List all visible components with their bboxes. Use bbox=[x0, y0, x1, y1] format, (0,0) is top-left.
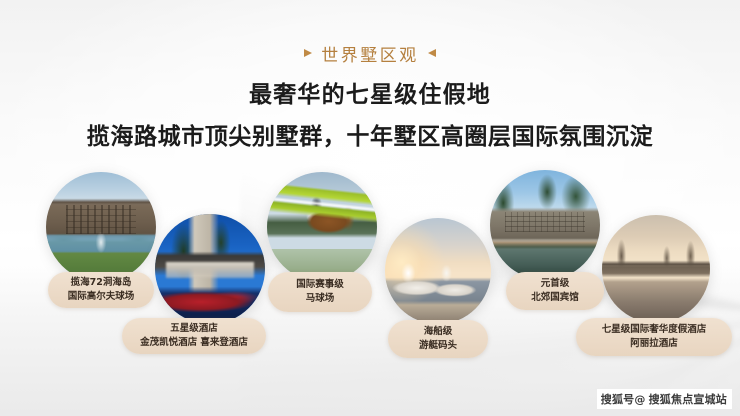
triangle-right-icon bbox=[304, 49, 312, 57]
header: 世界墅区观 最奢华的七星级住假地 揽海路城市顶尖别墅群，十年墅区高圈层国际氛围沉… bbox=[0, 42, 740, 151]
photo-resort-clubhouse-lawn-fountain bbox=[46, 172, 156, 282]
amenity-label-line-1: 揽海72洞海岛 bbox=[71, 276, 132, 290]
headline-line-1: 最奢华的七星级住假地 bbox=[0, 75, 740, 109]
amenity-label-line-1: 元首级 bbox=[541, 277, 570, 291]
amenity-label-yacht-marina: 海船级 游艇码头 bbox=[388, 320, 488, 358]
amenity-label-line-2: 国际高尔夫球场 bbox=[68, 290, 135, 304]
watermark-platform: 搜狐号@ bbox=[597, 389, 649, 409]
photo-lakeside-guesthouse bbox=[490, 170, 600, 280]
eyebrow-label: 世界墅区观 bbox=[321, 41, 419, 66]
amenity-label-five-star-hotels: 五星级酒店 金茂凯悦酒店 喜来登酒店 bbox=[122, 318, 266, 354]
amenity-photo-five-star-hotels bbox=[155, 214, 265, 324]
amenity-photo-state-guesthouse bbox=[490, 170, 600, 280]
amenity-label-line-1: 五星级酒店 bbox=[170, 322, 218, 336]
amenity-label-line-2: 马球场 bbox=[306, 292, 335, 306]
triangle-left-icon bbox=[428, 49, 436, 57]
amenity-label-golf-course: 揽海72洞海岛 国际高尔夫球场 bbox=[48, 272, 154, 308]
amenity-label-line-1: 国际赛事级 bbox=[296, 278, 344, 292]
watermark: 搜狐号@ 搜狐焦点宣城站 bbox=[597, 389, 732, 409]
amenity-label-polo-field: 国际赛事级 马球场 bbox=[268, 272, 372, 312]
amenity-label-line-1: 海船级 bbox=[424, 325, 453, 339]
photo-waterfront-resort-sunset bbox=[602, 215, 710, 323]
amenity-label-line-2: 北郊国宾馆 bbox=[531, 291, 579, 305]
amenity-label-line-2: 金茂凯悦酒店 喜来登酒店 bbox=[140, 336, 248, 350]
amenity-label-line-2: 阿丽拉酒店 bbox=[630, 337, 678, 351]
headline-line-2: 揽海路城市顶尖别墅群，十年墅区高圈层国际氛围沉淀 bbox=[0, 117, 740, 151]
amenity-label-state-guesthouse: 元首级 北郊国宾馆 bbox=[506, 272, 604, 310]
photo-yacht-marina-sunset bbox=[385, 218, 491, 324]
promotional-poster: 世界墅区观 最奢华的七星级住假地 揽海路城市顶尖别墅群，十年墅区高圈层国际氛围沉… bbox=[0, 0, 740, 416]
eyebrow: 世界墅区观 bbox=[0, 42, 740, 64]
amenity-label-line-2: 游艇码头 bbox=[419, 339, 457, 353]
photo-hotel-entrance-red-flowerbed bbox=[155, 214, 265, 324]
watermark-account: 搜狐焦点宣城站 bbox=[649, 389, 732, 409]
amenity-label-seven-star-resort: 七星级国际奢华度假酒店 阿丽拉酒店 bbox=[576, 318, 732, 356]
photo-show-jumping-horse-rider bbox=[267, 172, 377, 282]
amenity-photo-polo-field bbox=[267, 172, 377, 282]
amenity-photo-golf-course bbox=[46, 172, 156, 282]
amenity-photo-yacht-marina bbox=[385, 218, 491, 324]
amenity-label-line-1: 七星级国际奢华度假酒店 bbox=[602, 323, 707, 337]
amenity-photo-seven-star-resort bbox=[602, 215, 710, 323]
